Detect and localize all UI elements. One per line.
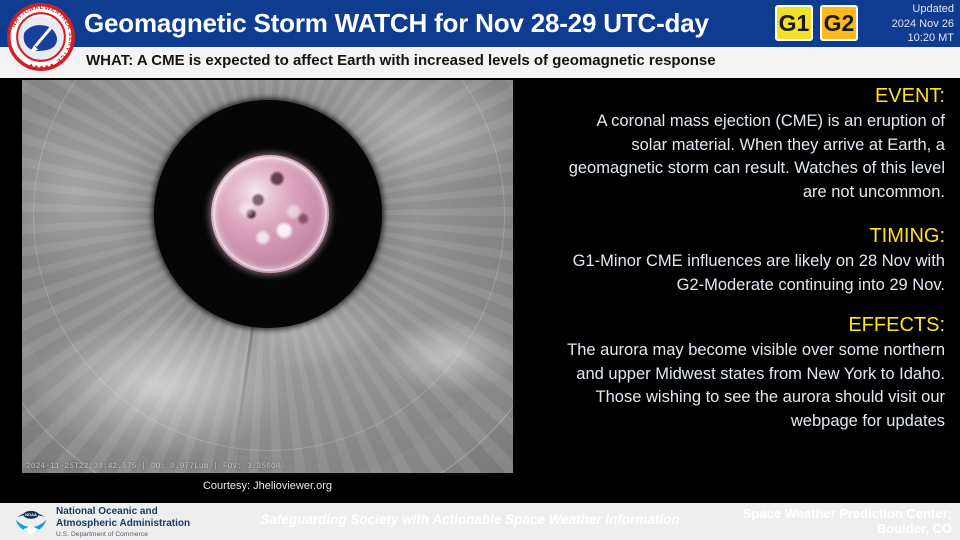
section-timing-heading: TIMING: <box>560 224 945 249</box>
updated-label: Updated <box>862 2 954 17</box>
page-title: Geomagnetic Storm WATCH for Nov 28-29 UT… <box>84 7 784 40</box>
national-weather-service-seal-icon: NATIONAL WEATHER SERVICE N A T I O N A L… <box>6 2 76 72</box>
section-effects-heading: EFFECTS: <box>560 313 945 338</box>
svg-text:L: L <box>40 5 44 11</box>
swpc-credit: Space Weather Prediction Center; Boulder… <box>692 506 952 536</box>
svg-text:E: E <box>67 37 73 41</box>
what-text: WHAT: A CME is expected to affect Earth … <box>86 52 716 69</box>
swpc-credit-line1: Space Weather Prediction Center; <box>692 506 952 521</box>
noaa-agency-text: National Oceanic and Atmospheric Adminis… <box>56 506 190 540</box>
storm-scale-badges: G1 G2 <box>775 5 858 41</box>
coronagraph-image: 2024-11-25T22:30:42.575 | DO: 0.977Lum |… <box>22 80 513 473</box>
noaa-agency-line1: National Oceanic and <box>56 506 190 518</box>
header-bar: Geomagnetic Storm WATCH for Nov 28-29 UT… <box>0 0 960 47</box>
section-timing-body: G1-Minor CME influences are likely on 28… <box>560 250 945 297</box>
section-event: EVENT: A coronal mass ejection (CME) is … <box>560 84 945 204</box>
storm-badge-g1: G1 <box>775 5 813 41</box>
what-bar: WHAT: A CME is expected to affect Earth … <box>0 47 960 78</box>
updated-date: 2024 Nov 26 <box>862 17 954 32</box>
section-timing: TIMING: G1-Minor CME influences are like… <box>560 224 945 297</box>
image-overlay-timestamp: 2024-11-25T22:30:42.575 | DO: 0.977Lum |… <box>26 461 285 471</box>
section-effects: EFFECTS: The aurora may become visible o… <box>560 313 945 433</box>
footer-tagline: Safeguarding Society with Actionable Spa… <box>250 512 690 527</box>
svg-text:NOAA: NOAA <box>25 512 37 517</box>
updated-time: 10:20 MT <box>862 31 954 46</box>
noaa-agency-line2: Atmospheric Administration <box>56 518 190 530</box>
solar-limb <box>213 157 327 271</box>
storm-badge-g2-label: G2 <box>824 10 855 37</box>
image-courtesy-credit: Courtesy: Jhelioviewer.org <box>22 480 513 492</box>
section-event-body: A coronal mass ejection (CME) is an erup… <box>560 110 945 204</box>
info-panel: EVENT: A coronal mass ejection (CME) is … <box>560 84 945 433</box>
svg-text:S: S <box>67 32 73 37</box>
noaa-agency-sub: U.S. Department of Commerce <box>56 529 190 540</box>
space-weather-alert-graphic: Geomagnetic Storm WATCH for Nov 28-29 UT… <box>0 0 960 540</box>
section-effects-body: The aurora may become visible over some … <box>560 339 945 433</box>
storm-badge-g1-label: G1 <box>779 10 810 37</box>
solar-disk <box>211 155 329 273</box>
storm-badge-g2: G2 <box>820 5 858 41</box>
updated-block: Updated 2024 Nov 26 10:20 MT <box>862 2 954 46</box>
swpc-credit-line2: Boulder, CO <box>692 521 952 536</box>
section-event-heading: EVENT: <box>560 84 945 109</box>
noaa-seal-icon: NOAA <box>12 504 50 540</box>
